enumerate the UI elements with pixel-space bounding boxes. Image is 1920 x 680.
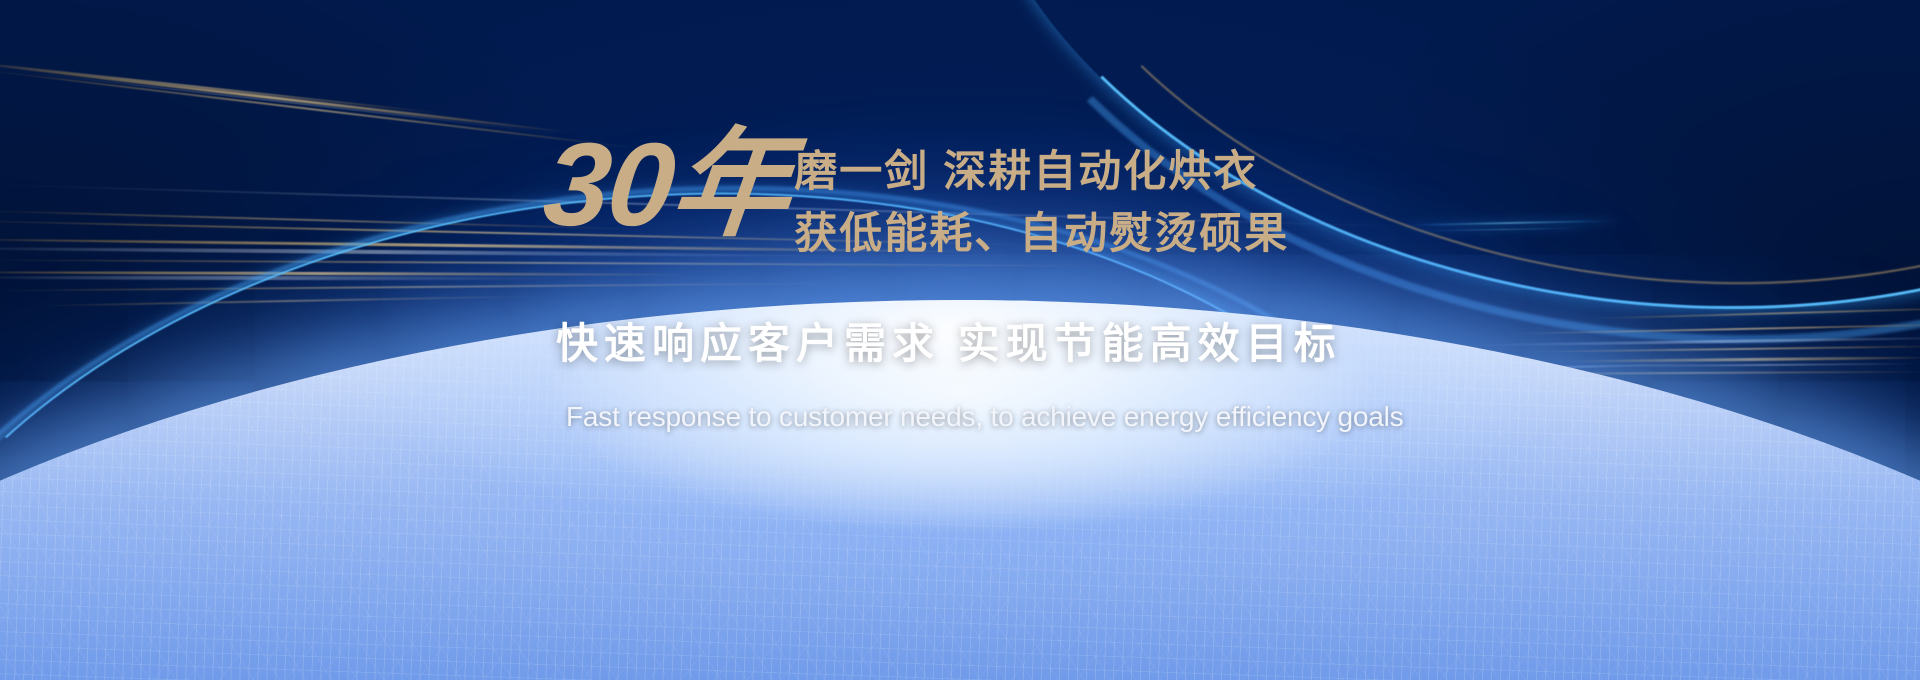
subheadline-english: Fast response to customer needs, to achi…	[566, 398, 1403, 436]
years-number: 30	[538, 119, 679, 251]
gold-tagline-line-2: 获低能耗、自动熨烫硕果	[794, 203, 1289, 265]
promotional-banner: 30年 磨一剑 深耕自动化烘衣 获低能耗、自动熨烫硕果 快速响应客户需求 实现节…	[0, 0, 1920, 680]
years-unit: 年	[665, 119, 797, 251]
subheadline-chinese: 快速响应客户需求 实现节能高效目标	[556, 316, 1342, 372]
gold-tagline-block: 磨一剑 深耕自动化烘衣 获低能耗、自动熨烫硕果	[794, 133, 1289, 265]
headline-block: 30年 磨一剑 深耕自动化烘衣 获低能耗、自动熨烫硕果	[545, 133, 1289, 265]
years-highlight: 30年	[540, 133, 796, 237]
banner-content: 30年 磨一剑 深耕自动化烘衣 获低能耗、自动熨烫硕果 快速响应客户需求 实现节…	[0, 0, 1920, 680]
gold-tagline-line-1: 磨一剑 深耕自动化烘衣	[794, 141, 1289, 203]
